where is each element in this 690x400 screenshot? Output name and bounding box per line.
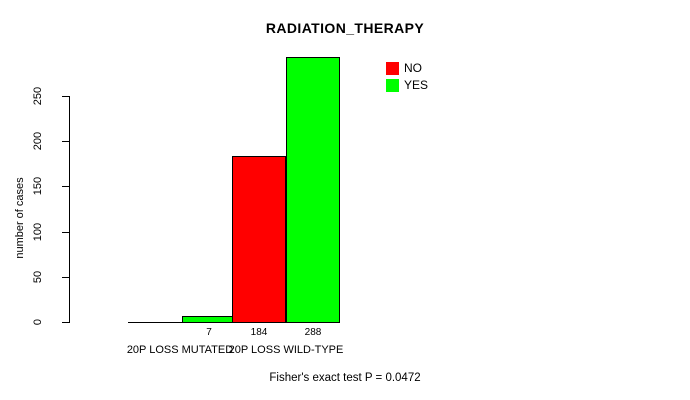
y-axis-tick xyxy=(62,232,69,233)
bar-value-label-group2-yes: 288 xyxy=(286,327,340,338)
statistical-test-annotation: Fisher's exact test P = 0.0472 xyxy=(0,372,690,384)
bar-value-label-group2-no: 184 xyxy=(232,327,286,338)
barplot-figure: RADIATION_THERAPY 250 200 150 100 50 0 xyxy=(0,0,690,400)
y-axis-tick-label: 200 xyxy=(18,135,58,147)
y-axis-tick-label: 0 xyxy=(18,316,58,328)
x-axis-group-label-wild-type: 20P LOSS WILD-TYPE xyxy=(158,344,414,356)
y-axis-title: number of cases xyxy=(14,148,26,288)
bar-group1-yes xyxy=(182,316,236,323)
bar-group1-no xyxy=(128,322,182,323)
bar-group2-no xyxy=(232,156,286,323)
y-axis-tick xyxy=(62,322,69,323)
legend-label-no: NO xyxy=(404,61,422,76)
y-axis-tick xyxy=(62,277,69,278)
bar-group2-yes xyxy=(286,57,340,323)
bar-value-label-group1-yes: 7 xyxy=(182,327,236,338)
y-axis-tick xyxy=(62,186,69,187)
y-axis-tick-label: 250 xyxy=(18,90,58,102)
y-axis-tick xyxy=(62,141,69,142)
y-axis-line xyxy=(69,96,70,323)
legend-label-yes: YES xyxy=(404,78,428,93)
legend-swatch-yes-icon xyxy=(386,79,399,92)
plot-area: 250 200 150 100 50 0 number of cases 7 xyxy=(0,0,690,400)
y-axis-tick xyxy=(62,96,69,97)
legend-swatch-no-icon xyxy=(386,62,399,75)
